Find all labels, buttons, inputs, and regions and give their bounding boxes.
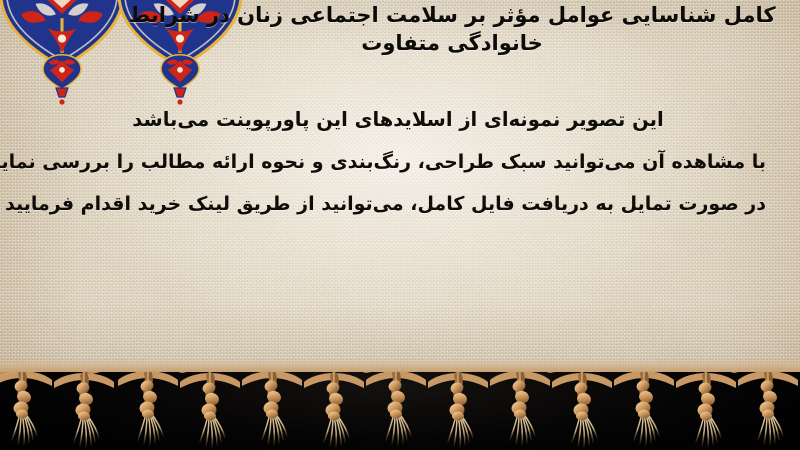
fringe-tassels [0,372,798,447]
body-line-1: این تصویر نمونه‌ای از اسلایدهای این پاور… [30,110,766,130]
slide-canvas: کامل شناسایی عوامل مؤثر بر سلامت اجتماعی… [0,0,800,450]
carpet-fringe-svg [0,372,800,450]
carpet-fringe-band [0,372,800,450]
slide-title: کامل شناسایی عوامل مؤثر بر سلامت اجتماعی… [122,2,782,58]
body-line-2: با مشاهده آن می‌توانید سبک طراحی، رنگ‌بن… [30,153,766,172]
title-line-1: کامل شناسایی عوامل مؤثر بر سلامت اجتماعی… [122,2,782,29]
body-line-3: در صورت تمایل به دریافت فایل کامل، می‌تو… [30,195,766,214]
title-line-2: خانوادگی متفاوت [122,30,782,57]
slide-body: این تصویر نمونه‌ای از اسلایدهای این پاور… [30,110,766,237]
